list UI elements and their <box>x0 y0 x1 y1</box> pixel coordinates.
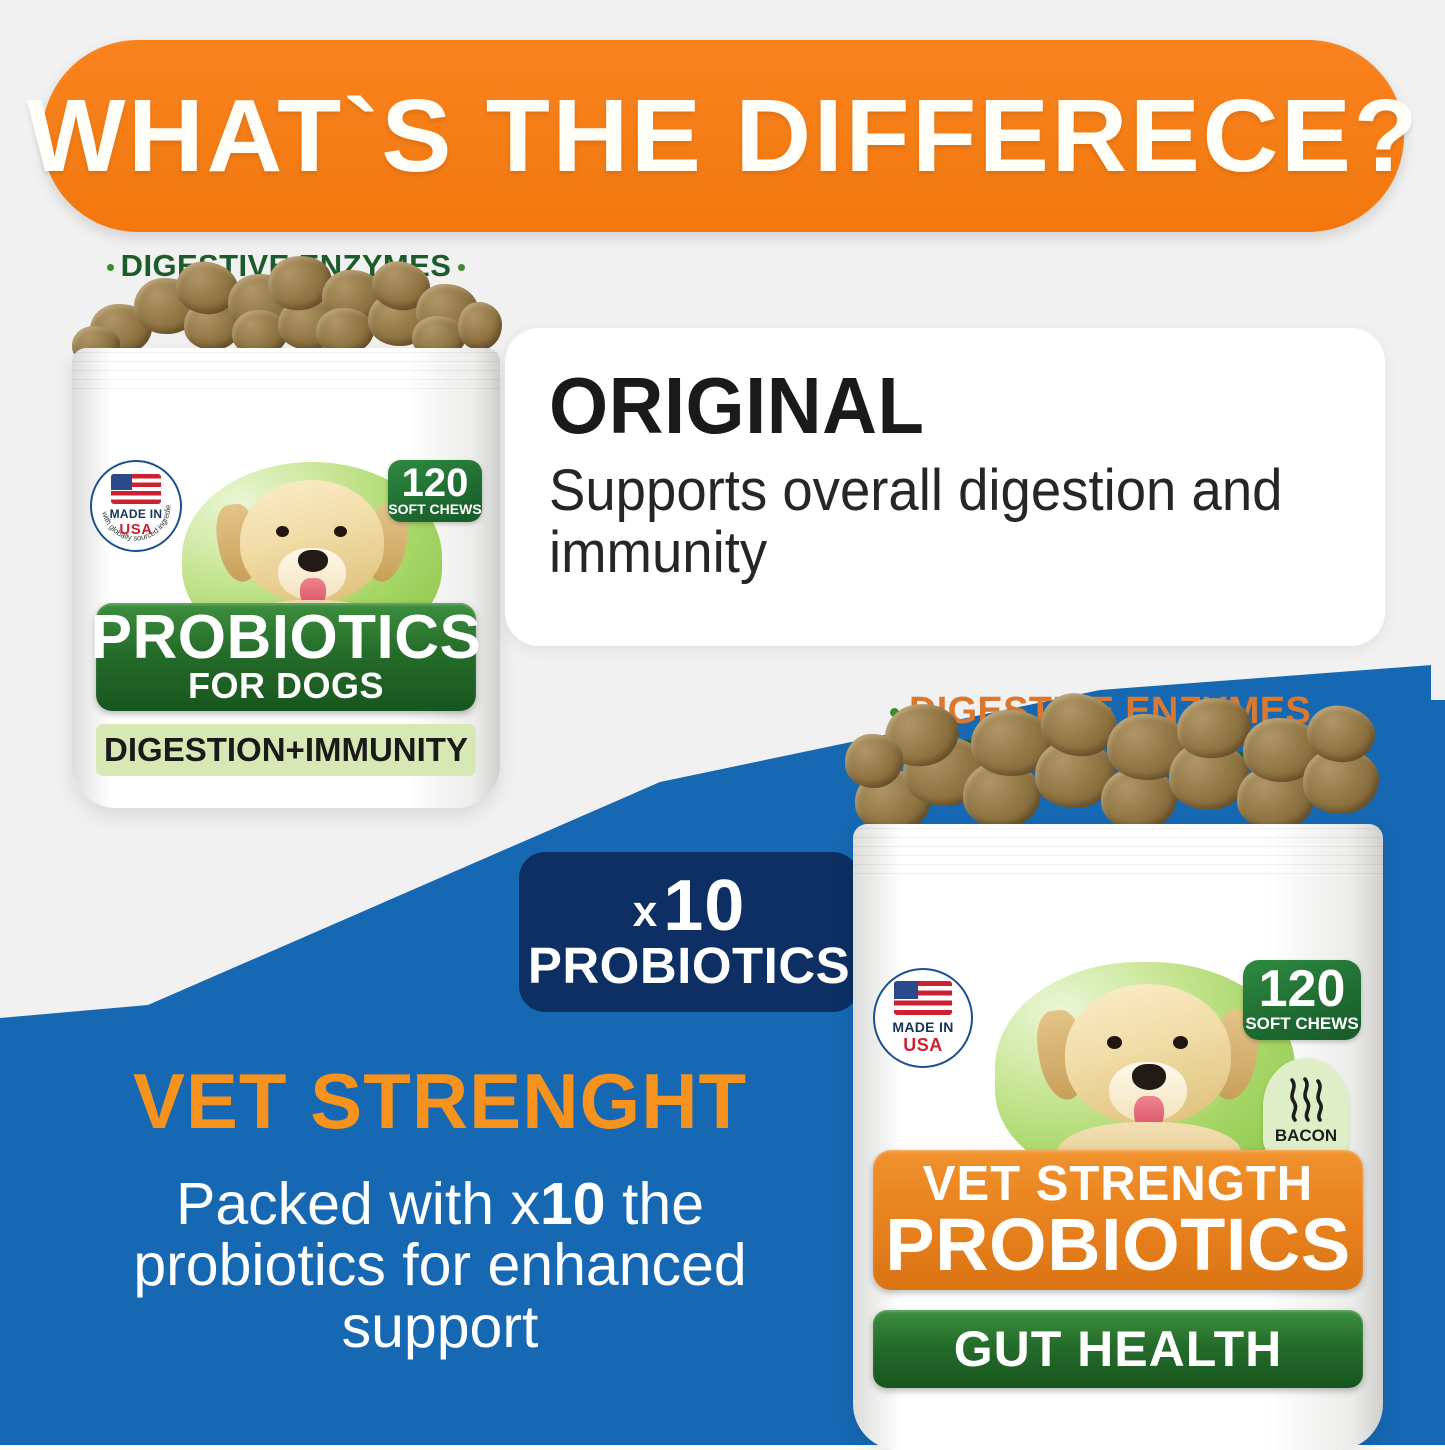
jar1-usa-ring-text: with globally sourced ingredients <box>92 462 172 542</box>
jar2-main-band: VET STRENGTH PROBIOTICS <box>873 1150 1363 1290</box>
infographic-canvas: WHAT`S THE DIFFERECE? DIGESTIVE EN <box>0 0 1445 1445</box>
x10-value: 10 <box>663 866 745 946</box>
jar1-count-sub: SOFT CHEWS <box>388 501 481 517</box>
jar2-count-badge: 120 SOFT CHEWS <box>1243 960 1361 1040</box>
x10-multiplier: x10 <box>633 873 746 939</box>
jar1-count-badge: 120 SOFT CHEWS <box>388 460 482 522</box>
x10-label: PROBIOTICS <box>528 940 850 991</box>
product-jar-vet-strength: DIGESTIVE ENZYMES PREBIOTICPUMPKIN <box>845 690 1390 1450</box>
jar1-main-band: PROBIOTICS FOR DOGS <box>96 603 476 711</box>
jar2-made-in-usa-badge: MADE IN USA <box>873 968 973 1068</box>
background-right-strip <box>1431 0 1445 700</box>
jar-lid-rings-original <box>72 352 500 390</box>
page-title: WHAT`S THE DIFFERECE? <box>26 77 1420 195</box>
jar2-count-sub: SOFT CHEWS <box>1245 1014 1358 1034</box>
soft-chews-pile-vet-strength <box>845 690 1390 840</box>
jar1-sub-band: DIGESTION+IMMUNITY <box>96 724 476 776</box>
jar2-usa-made-in-text: MADE IN <box>892 1019 953 1035</box>
header-banner: WHAT`S THE DIFFERECE? <box>42 40 1404 232</box>
jar2-band-vet-strength: VET STRENGTH <box>923 1160 1313 1209</box>
vs-desc-part1: Packed with x <box>176 1171 540 1237</box>
jar2-sub-band: GUT HEALTH <box>873 1310 1363 1388</box>
original-card-description: Supports overall digestion and immunity <box>549 460 1293 584</box>
bacon-strip-icon <box>1284 1076 1328 1124</box>
svg-text:with globally sourced ingredie: with globally sourced ingredients <box>92 462 172 542</box>
jar1-made-in-usa-badge: MADE IN USA with globally sourced ingred… <box>90 460 182 552</box>
original-card-title: ORIGINAL <box>549 368 1301 444</box>
jar2-count-number: 120 <box>1259 966 1346 1014</box>
x10-probiotics-badge: x10 PROBIOTICS <box>519 852 859 1012</box>
vet-strength-title: VET STRENGHT <box>60 1062 820 1140</box>
jar1-sub-band-text: DIGESTION+IMMUNITY <box>104 731 468 769</box>
x10-prefix: x <box>633 887 663 936</box>
soft-chews-pile-original <box>72 248 500 358</box>
vs-desc-bold: 10 <box>540 1171 606 1237</box>
vet-strength-description: Packed with x10 the probiotics for enhan… <box>60 1174 820 1358</box>
jar1-usa-ring-text-icon: with globally sourced ingredients <box>92 462 180 550</box>
jar2-sub-band-text: GUT HEALTH <box>954 1320 1282 1378</box>
jar1-band-probiotics: PROBIOTICS <box>91 609 482 667</box>
jar2-usa-country-text: USA <box>903 1035 943 1056</box>
jar1-band-for-dogs: FOR DOGS <box>188 667 384 705</box>
product-jar-original: DIGESTIVE ENZYMES PREBIOTIC <box>72 248 500 808</box>
vet-strength-text-block: VET STRENGHT Packed with x10 the probiot… <box>60 1062 820 1358</box>
jar-lid-rings-vet-strength <box>853 828 1383 874</box>
original-description-card: ORIGINAL Supports overall digestion and … <box>505 328 1385 646</box>
jar1-count-number: 120 <box>402 465 469 502</box>
jar2-band-probiotics: PROBIOTICS <box>885 1209 1350 1280</box>
jar2-flavor-label: BACON <box>1275 1126 1337 1146</box>
jar2-flavor-badge-bacon: BACON <box>1263 1058 1349 1154</box>
